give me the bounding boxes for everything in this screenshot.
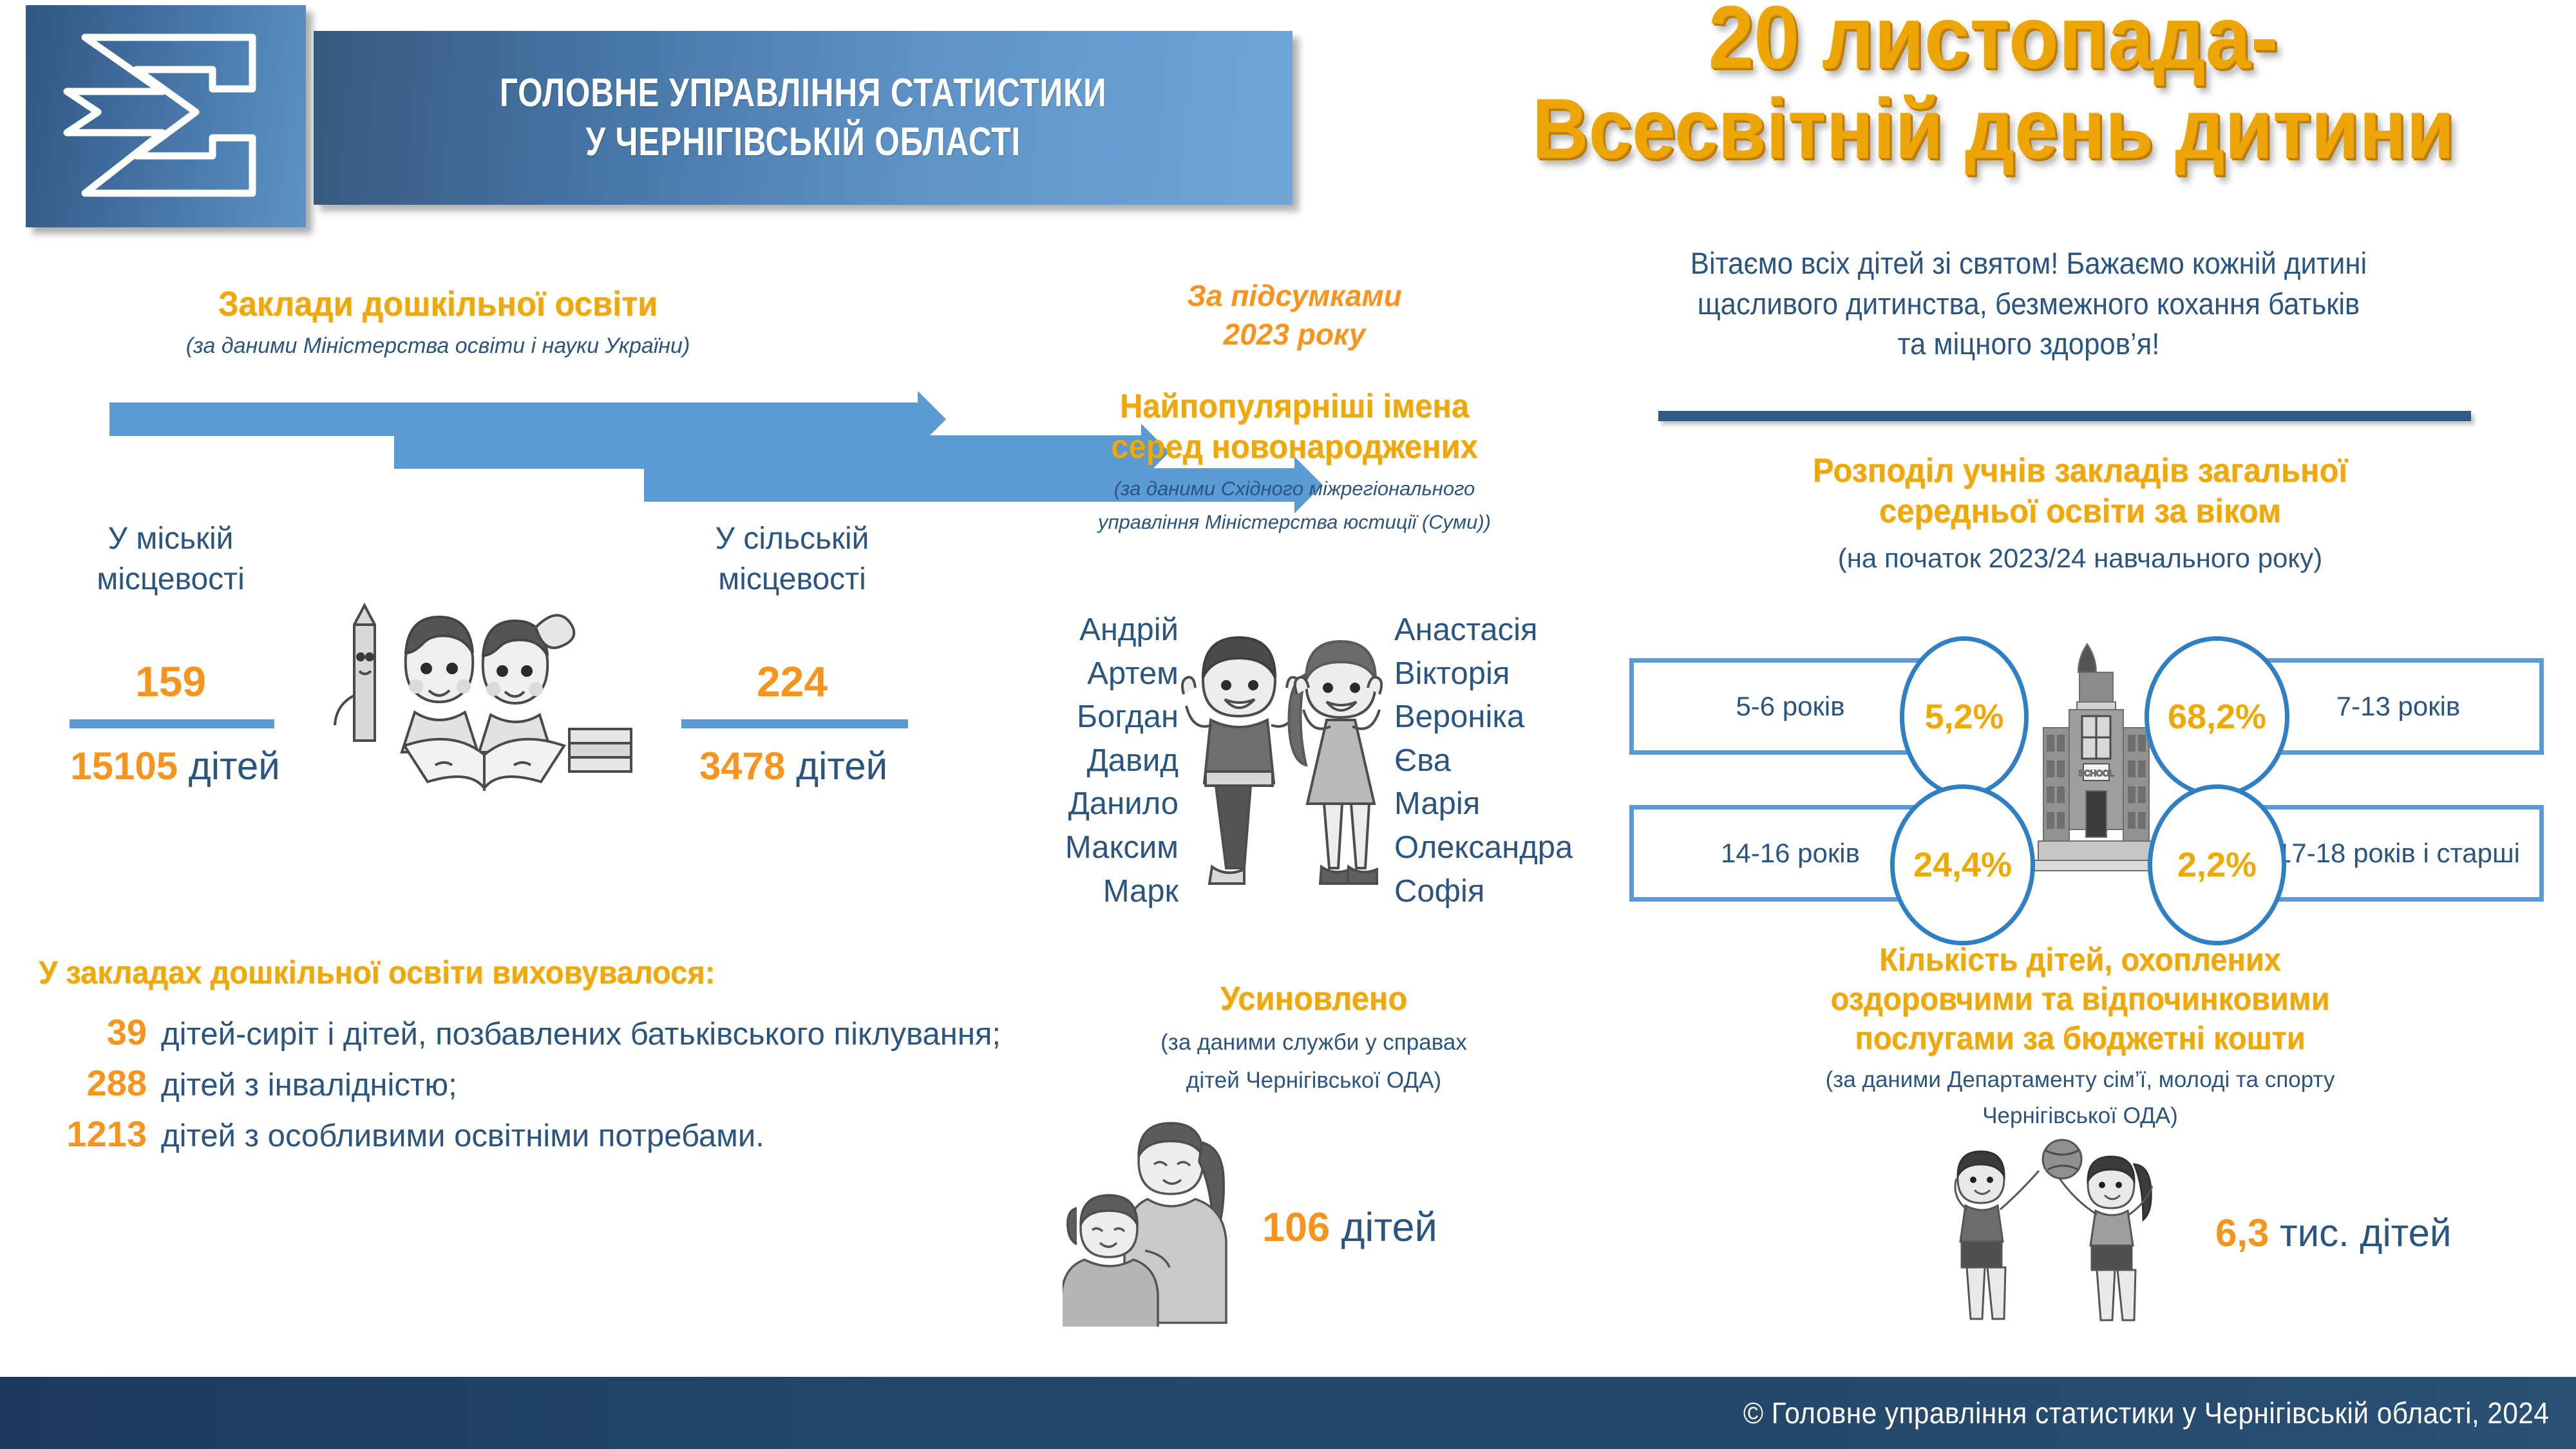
raised-heading: У закладах дошкільної освіти виховувалос… [39, 953, 1043, 992]
urban-label-line-1: У міській [32, 518, 309, 559]
names-title-line-2: серед новонароджених [992, 427, 1597, 468]
section-divider [1658, 411, 2471, 421]
preschool-source: (за даними Міністерства освіти і науки У… [58, 332, 818, 360]
adoption-heading: Усиновлено (за даними служби у справах д… [1024, 979, 1604, 1095]
health-source-line-1: (за даними Департаменту сім’ї, молоді та… [1610, 1066, 2550, 1094]
names-period-line-2: 2023 року [985, 316, 1604, 354]
health-title-line-2: оздоровчими та відпочинковими [1638, 980, 2522, 1019]
age-label-box-17-18: 17-18 років і старші [2253, 805, 2544, 902]
names-heading: Найпопулярніші імена серед новонароджени… [972, 386, 1616, 535]
list-item: Богдан [992, 696, 1179, 739]
greeting-line-2: щасливого дитинства, безмежного кохання … [1537, 284, 2519, 325]
arrow-shape-1 [109, 402, 918, 436]
page-title: 20 листопада- Всесвітній день дитини [1404, 0, 2576, 172]
raised-text: дітей з особливими освітніми потребами. [161, 1117, 764, 1156]
list-item: Данило [992, 782, 1179, 826]
age-label-box-7-13: 7-13 років [2253, 658, 2544, 755]
raised-list: 39 дітей-сиріт і дітей, позбавлених бать… [39, 1011, 1043, 1163]
list-item: Марк [992, 870, 1179, 914]
raised-text: дітей з інвалідністю; [161, 1066, 457, 1105]
urban-label: У міській місцевості [32, 518, 309, 600]
raised-row: 39 дітей-сиріт і дітей, позбавлених бать… [39, 1011, 1043, 1054]
health-stat: 6,3 тис. дітей [2215, 1211, 2576, 1255]
names-title-line-1: Найпопулярніші імена [992, 386, 1597, 427]
list-item: Артем [992, 652, 1179, 696]
age-value-14-16: 24,4% [1890, 784, 2035, 945]
list-item: Давид [992, 739, 1179, 783]
raised-number: 39 [39, 1011, 161, 1053]
urban-stat-rule [70, 719, 274, 728]
raised-row: 288 дітей з інвалідністю; [39, 1062, 1043, 1105]
adoption-source-line-1: (за даними служби у справах [1024, 1028, 1604, 1057]
organization-banner: ГОЛОВНЕ УПРАВЛІННЯ СТАТИСТИКИ У ЧЕРНІГІВ… [314, 31, 1293, 205]
list-item: Максим [992, 826, 1179, 870]
greeting-line-1: Вітаємо всіх дітей зі святом! Бажаємо ко… [1537, 243, 2519, 284]
greeting-block: Вітаємо всіх дітей зі святом! Бажаємо ко… [1501, 243, 2557, 365]
boy-and-girl-waving-illustration [1179, 618, 1404, 895]
school-building-icon: SCHOOL [2032, 638, 2161, 908]
adoption-source-line-2: дітей Чернігівської ОДА) [1024, 1066, 1604, 1095]
adoption-title: Усиновлено [1041, 979, 1586, 1019]
list-item: Софія [1394, 870, 1613, 914]
adoption-number: 106 [1262, 1205, 1330, 1250]
adoption-unit: дітей [1341, 1205, 1437, 1250]
urban-children-stat: 15105 дітей [33, 744, 317, 788]
urban-children-number: 15105 [70, 744, 178, 788]
urban-institutions-value: 159 [32, 657, 309, 706]
footer-bar: © Головне управління статистики у Черніг… [0, 1377, 2576, 1449]
health-title-line-1: Кількість дітей, охоплених [1638, 940, 2522, 980]
health-heading: Кількість дітей, охоплених оздоровчими т… [1610, 940, 2550, 1130]
health-title-line-3: послугами за бюджетні кошти [1638, 1019, 2522, 1058]
list-item: Єва [1394, 739, 1613, 783]
list-item: Анастасія [1394, 609, 1613, 652]
list-item: Вікторія [1394, 652, 1613, 696]
boy-names-list: Андрій Артем Богдан Давид Данило Максим … [992, 609, 1179, 913]
page-title-line-2: Всесвітній день дитини [1451, 86, 2535, 173]
raised-number: 1213 [39, 1113, 161, 1155]
girl-names-list: Анастасія Вікторія Вероніка Єва Марія Ол… [1394, 609, 1613, 913]
mother-hugging-child-illustration [1063, 1114, 1249, 1327]
age-value-7-13: 68,2% [2145, 636, 2289, 797]
health-unit: тис. дітей [2280, 1211, 2451, 1255]
list-item: Марія [1394, 782, 1613, 826]
rural-children-number: 3478 [699, 744, 785, 788]
age-value-5-6: 5,2% [1900, 636, 2029, 797]
urban-children-word: дітей [189, 744, 280, 788]
children-playing-ball-illustration [1919, 1133, 2202, 1327]
age-distribution-diagram: 5-6 років 7-13 років 14-16 років 17-18 р… [1629, 644, 2544, 902]
list-item: Андрій [992, 609, 1179, 652]
rural-label: У сільській місцевості [650, 518, 934, 600]
preschool-title: Заклади дошкільної освіти [80, 283, 795, 326]
raised-text: дітей-сиріт і дітей, позбавлених батьків… [161, 1016, 1001, 1054]
distribution-title-line-2: середньої освіти за віком [1651, 491, 2510, 532]
banner-line-2: У ЧЕРНІГІВСЬКІЙ ОБЛАСТІ [585, 118, 1020, 167]
raised-row: 1213 дітей з особливими освітніми потреб… [39, 1113, 1043, 1156]
greeting-line-3: та міцного здоров’я! [1537, 324, 2519, 365]
age-value-17-18: 2,2% [2148, 784, 2286, 945]
rural-institutions-value: 224 [650, 657, 934, 706]
health-number: 6,3 [2215, 1211, 2269, 1255]
rural-children-word: дітей [796, 744, 887, 788]
infographic-canvas: ГОЛОВНЕ УПРАВЛІННЯ СТАТИСТИКИ У ЧЕРНІГІВ… [0, 0, 2576, 1449]
list-item: Олександра [1394, 826, 1613, 870]
raised-number: 288 [39, 1062, 161, 1104]
names-period-line-1: За підсумками [985, 277, 1604, 316]
distribution-title-line-1: Розподіл учнів закладів загальної [1651, 451, 2510, 491]
health-source-line-2: Чернігівської ОДА) [1610, 1102, 2550, 1130]
adoption-stat: 106 дітей [1262, 1204, 1597, 1251]
distribution-heading: Розподіл учнів закладів загальної середн… [1623, 451, 2537, 575]
rural-label-line-2: місцевості [650, 559, 934, 600]
raised-title-text: У закладах дошкільної освіти виховувалос… [39, 953, 983, 992]
preschool-heading: Заклади дошкільної освіти (за даними Мін… [58, 283, 818, 359]
urban-label-line-2: місцевості [32, 559, 309, 600]
rural-children-stat: 3478 дітей [652, 744, 935, 788]
distribution-subtitle: (на початок 2023/24 навчального року) [1623, 542, 2537, 576]
names-source-line-2: управління Міністерства юстиції (Суми)) [972, 509, 1616, 535]
list-item: Вероніка [1394, 696, 1613, 739]
footer-copyright: © Головне управління статистики у Черніг… [1743, 1396, 2549, 1430]
banner-line-1: ГОЛОВНЕ УПРАВЛІННЯ СТАТИСТИКИ [500, 69, 1107, 118]
sigma-logo-icon [59, 30, 272, 204]
svg-text:SCHOOL: SCHOOL [2079, 768, 2114, 778]
children-reading-illustration [309, 580, 644, 792]
names-source-line-1: (за даними Східного міжрегіонального [972, 476, 1616, 502]
page-title-line-1: 20 листопада- [1451, 0, 2535, 83]
rural-label-line-1: У сільській [650, 518, 934, 559]
rural-stat-rule [681, 719, 908, 728]
organization-logo-panel [26, 5, 306, 227]
names-period: За підсумками 2023 року [985, 277, 1604, 354]
